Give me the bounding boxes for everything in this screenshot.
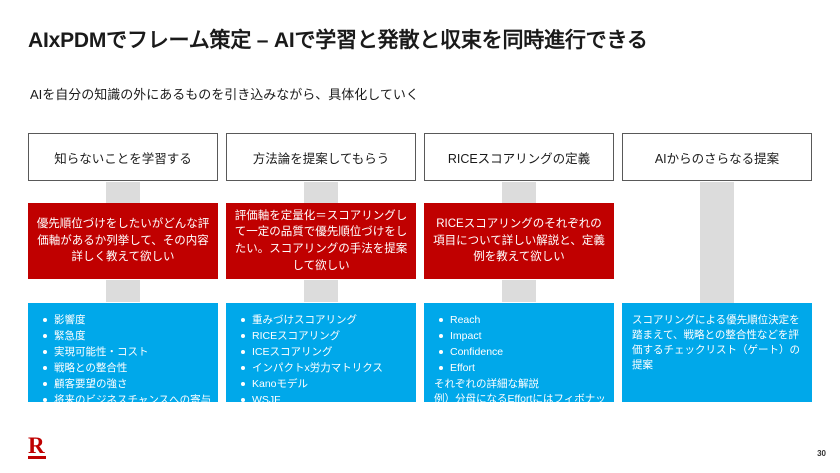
output-box-column-1[interactable]: 影響度 緊急度 実現可能性・コスト 戦略との整合性 顧客要望の強さ 将来のビジネ… xyxy=(28,303,218,402)
connector-col2-prompt-to-output xyxy=(304,280,338,302)
prompt-box-column-1[interactable]: 優先順位づけをしたいがどんな評価軸があるか列挙して、その内容詳しく教えて欲しい xyxy=(28,203,218,279)
connector-col1-prompt-to-output xyxy=(106,280,140,302)
header-box-column-2[interactable]: 方法論を提案してもらう xyxy=(226,133,416,181)
list-item: ICEスコアリング xyxy=(252,345,406,360)
prompt-box-column-2[interactable]: 評価軸を定量化＝スコアリングして一定の品質で優先順位づけをしたい。スコアリングの… xyxy=(226,203,416,279)
list-item: インパクトx労力マトリクス xyxy=(252,361,406,376)
prompt-box-column-3[interactable]: RICEスコアリングのそれぞれの項目について詳しい解説と、定義例を教えて欲しい xyxy=(424,203,614,279)
output-note-line: 例）分母になるEffortにはフィボナッ xyxy=(434,392,604,407)
list-item: リスク軽減効果 xyxy=(54,408,208,423)
header-box-column-4[interactable]: AIからのさらなる提案 xyxy=(622,133,812,181)
list-item: Kanoモデル xyxy=(252,377,406,392)
prompt-text: 評価軸を定量化＝スコアリングして一定の品質で優先順位づけをしたい。スコアリングの… xyxy=(234,208,408,275)
list-item: 影響度 xyxy=(54,313,208,328)
slide-canvas: AIxPDMでフレーム策定 – AIで学習と発散と収束を同時進行できる AIを自… xyxy=(0,0,840,473)
list-item: Confidence xyxy=(450,345,604,360)
connector-col1-head-to-prompt xyxy=(106,182,140,204)
prompt-text: RICEスコアリングのそれぞれの項目について詳しい解説と、定義例を教えて欲しい xyxy=(432,216,606,266)
connector-col4-head-to-output xyxy=(700,182,734,304)
list-item: 顧客要望の強さ xyxy=(54,377,208,392)
header-box-column-1[interactable]: 知らないことを学習する xyxy=(28,133,218,181)
page-subtitle: AIを自分の知識の外にあるものを引き込みながら、具体化していく xyxy=(30,84,419,103)
header-box-label: 方法論を提案してもらう xyxy=(253,148,390,167)
list-item: 重みづけスコアリング xyxy=(252,313,406,328)
connector-col3-head-to-prompt xyxy=(502,182,536,204)
list-item: 戦略との整合性 xyxy=(54,361,208,376)
list-item: 実現可能性・コスト xyxy=(54,345,208,360)
connector-col2-head-to-prompt xyxy=(304,182,338,204)
logo-letter: R xyxy=(28,437,50,455)
list-item: 緊急度 xyxy=(54,329,208,344)
output-box-column-2[interactable]: 重みづけスコアリング RICEスコアリング ICEスコアリング インパクトx労力… xyxy=(226,303,416,402)
output-note-line: それぞれの詳細な解説 xyxy=(434,377,604,392)
output-note-line: チ数列を採用する提案など xyxy=(434,406,604,421)
page-number: 30 xyxy=(817,449,826,458)
list-item: 将来のビジネスチャンスへの寄与 xyxy=(54,393,208,408)
output-bullet-list: 重みづけスコアリング RICEスコアリング ICEスコアリング インパクトx労力… xyxy=(236,313,406,407)
output-bullet-list: 影響度 緊急度 実現可能性・コスト 戦略との整合性 顧客要望の強さ 将来のビジネ… xyxy=(38,313,208,423)
list-item: WSJF xyxy=(252,393,406,408)
header-box-label: RICEスコアリングの定義 xyxy=(448,148,590,167)
prompt-text: 優先順位づけをしたいがどんな評価軸があるか列挙して、その内容詳しく教えて欲しい xyxy=(36,216,210,266)
output-paragraph: スコアリングによる優先順位決定を踏まえて、戦略との整合性などを評価するチェックリ… xyxy=(632,313,802,373)
list-item: RICEスコアリング xyxy=(252,329,406,344)
page-title: AIxPDMでフレーム策定 – AIで学習と発散と収束を同時進行できる xyxy=(28,24,648,54)
output-box-column-3[interactable]: Reach Impact Confidence Effort それぞれの詳細な解… xyxy=(424,303,614,402)
list-item: Impact xyxy=(450,329,604,344)
output-bullet-list: Reach Impact Confidence Effort xyxy=(434,313,604,376)
list-item: Reach xyxy=(450,313,604,328)
output-box-column-4[interactable]: スコアリングによる優先順位決定を踏まえて、戦略との整合性などを評価するチェックリ… xyxy=(622,303,812,402)
header-box-column-3[interactable]: RICEスコアリングの定義 xyxy=(424,133,614,181)
header-box-label: 知らないことを学習する xyxy=(54,148,192,167)
header-box-label: AIからのさらなる提案 xyxy=(655,148,779,167)
list-item: Effort xyxy=(450,361,604,376)
connector-col3-prompt-to-output xyxy=(502,280,536,302)
rakuten-logo: R xyxy=(28,437,50,461)
